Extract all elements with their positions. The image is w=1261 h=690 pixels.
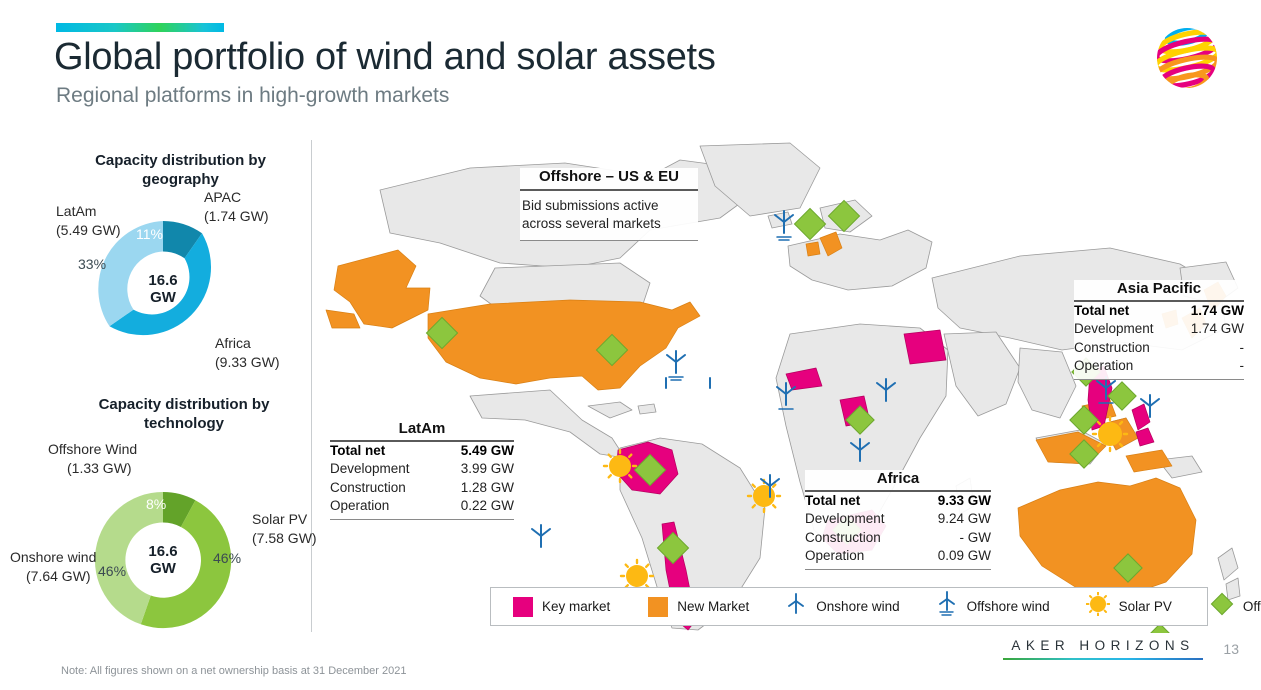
onshore-wind-turbine-icon <box>785 592 807 621</box>
row-value: 1.28 GW <box>440 478 514 496</box>
asia-pacific-info-table: Asia Pacific Total net 1.74 GW Developme… <box>1074 280 1244 380</box>
world-map-svg <box>320 138 1250 633</box>
legend-label: New Market <box>677 599 749 614</box>
row-label: Total net <box>1074 302 1176 320</box>
legend-label: Key market <box>542 599 610 614</box>
row-value: 9.24 GW <box>916 510 991 528</box>
technology-label-solar: Solar PV (7.58 GW) <box>252 510 317 548</box>
vertical-divider <box>311 140 312 632</box>
table-row: Development 3.99 GW <box>330 460 514 478</box>
geography-pct-latam: 33% <box>78 256 106 272</box>
aker-sphere-logo-icon <box>1151 22 1223 94</box>
callout-rule-bottom <box>520 240 698 241</box>
row-value: 3.99 GW <box>440 460 514 478</box>
page-number: 13 <box>1223 641 1239 657</box>
geography-label-latam: LatAm (5.49 GW) <box>56 202 121 240</box>
world-map[interactable] <box>320 138 1250 633</box>
page-title: Global portfolio of wind and solar asset… <box>54 36 716 79</box>
technology-pct-offshore: 8% <box>146 496 166 512</box>
row-value: - <box>1176 338 1244 356</box>
row-value: - GW <box>916 528 991 546</box>
geography-pct-apac: 11% <box>136 226 163 242</box>
row-value: 5.49 GW <box>440 442 514 460</box>
latam-rule-bottom <box>330 519 514 520</box>
row-value: 1.74 GW <box>1176 320 1244 338</box>
legend-item-solar-pv[interactable]: Solar PV <box>1086 592 1172 621</box>
row-value: - <box>1176 356 1244 374</box>
legend-label: Onshore wind <box>816 599 899 614</box>
table-row: Total net 1.74 GW <box>1074 302 1244 320</box>
row-value: 9.33 GW <box>916 492 991 510</box>
table-row: Operation 0.09 GW <box>805 546 991 564</box>
apac-rule-bottom <box>1074 379 1244 380</box>
row-label: Total net <box>330 442 440 460</box>
page-subtitle: Regional platforms in high-growth market… <box>56 84 449 108</box>
geography-pct-africa: 56% <box>184 320 212 336</box>
offshore-callout: Offshore – US & EU Bid submissions activ… <box>520 168 698 241</box>
technology-center-value: 16.6 <box>148 542 177 559</box>
legend-label: Office <box>1243 599 1261 614</box>
table-row: Total net 5.49 GW <box>330 442 514 460</box>
row-value: 0.09 GW <box>916 546 991 564</box>
legend-item-onshore-wind[interactable]: Onshore wind <box>785 592 899 621</box>
geography-chart-title: Capacity distribution by geography <box>58 152 303 190</box>
table-row: Operation - <box>1074 356 1244 374</box>
technology-pct-onshore: 46% <box>98 563 126 579</box>
technology-pct-solar: 46% <box>213 550 241 566</box>
table-row: Construction - GW <box>805 528 991 546</box>
geography-donut-center: 16.6 GW <box>103 271 223 306</box>
row-value: 1.74 GW <box>1176 302 1244 320</box>
green-diamond-icon <box>1210 592 1234 621</box>
table-row: Development 1.74 GW <box>1074 320 1244 338</box>
row-label: Operation <box>805 546 916 564</box>
brand-accent-rule <box>1003 658 1203 661</box>
row-label: Development <box>805 510 916 528</box>
africa-table: Total net 9.33 GW Development 9.24 GW Co… <box>805 492 991 565</box>
row-label: Total net <box>805 492 916 510</box>
geography-label-apac: APAC (1.74 GW) <box>204 188 269 226</box>
row-label: Construction <box>805 528 916 546</box>
latam-table: Total net 5.49 GW Development 3.99 GW Co… <box>330 442 514 515</box>
latam-table-title: LatAm <box>330 420 514 440</box>
geography-label-africa: Africa (9.33 GW) <box>215 334 280 372</box>
brand-logo: AKER HORIZONS <box>1003 638 1203 661</box>
technology-chart-title: Capacity distribution by technology <box>30 396 310 434</box>
slide: Global portfolio of wind and solar asset… <box>0 0 1261 690</box>
row-label: Construction <box>330 478 440 496</box>
row-label: Development <box>1074 320 1176 338</box>
technology-donut-chart: Capacity distribution by technology 16.6… <box>30 396 310 648</box>
legend-item-key-market[interactable]: Key market <box>513 597 610 617</box>
orange-square-icon <box>648 597 668 617</box>
row-label: Operation <box>1074 356 1176 374</box>
offshore-callout-body: Bid submissions active across several ma… <box>520 191 698 240</box>
row-label: Operation <box>330 496 440 514</box>
asia-pacific-table-title: Asia Pacific <box>1074 280 1244 300</box>
technology-label-offshore: Offshore Wind (1.33 GW) <box>48 440 137 478</box>
technology-label-onshore: Onshore wind (7.64 GW) <box>10 548 96 586</box>
africa-table-title: Africa <box>805 470 991 490</box>
offshore-callout-title: Offshore – US & EU <box>520 168 698 189</box>
technology-center-unit: GW <box>150 560 176 577</box>
africa-rule-bottom <box>805 569 991 570</box>
title-accent-bar <box>56 23 224 32</box>
row-label: Development <box>330 460 440 478</box>
sun-icon <box>1086 592 1110 621</box>
offshore-wind-turbine-icon <box>936 591 958 622</box>
geography-center-value: 16.6 <box>148 271 177 288</box>
table-row: Construction - <box>1074 338 1244 356</box>
legend-label: Solar PV <box>1119 599 1172 614</box>
pink-square-icon <box>513 597 533 617</box>
brand-name: AKER HORIZONS <box>1003 638 1203 653</box>
legend-item-offshore-wind[interactable]: Offshore wind <box>936 591 1050 622</box>
map-legend: Key market New Market Onshore wind <box>490 587 1208 626</box>
row-value: 0.22 GW <box>440 496 514 514</box>
asia-pacific-table: Total net 1.74 GW Development 1.74 GW Co… <box>1074 302 1244 375</box>
latam-info-table: LatAm Total net 5.49 GW Development 3.99… <box>330 420 514 520</box>
legend-item-office[interactable]: Office <box>1210 592 1261 621</box>
table-row: Development 9.24 GW <box>805 510 991 528</box>
legend-item-new-market[interactable]: New Market <box>648 597 749 617</box>
row-label: Construction <box>1074 338 1176 356</box>
table-row: Construction 1.28 GW <box>330 478 514 496</box>
legend-label: Offshore wind <box>967 599 1050 614</box>
table-row: Total net 9.33 GW <box>805 492 991 510</box>
africa-info-table: Africa Total net 9.33 GW Development 9.2… <box>805 470 991 570</box>
geography-donut-chart: Capacity distribution by geography 16.6 … <box>58 152 303 374</box>
footnote: Note: All figures shown on a net ownersh… <box>61 665 406 677</box>
geography-center-unit: GW <box>150 289 176 306</box>
table-row: Operation 0.22 GW <box>330 496 514 514</box>
